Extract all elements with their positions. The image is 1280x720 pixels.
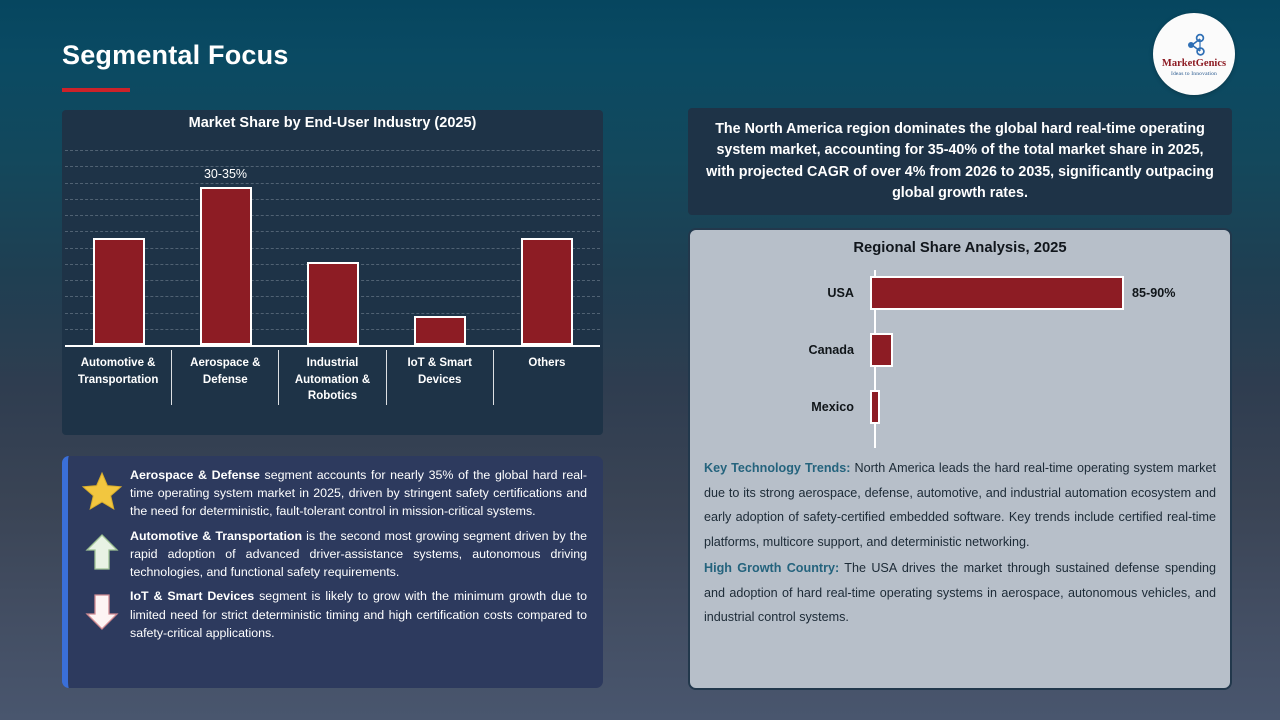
chart-plot-area: 30-35% Automotive & TransportationAerosp… [65,150,600,447]
region-paragraph: High Growth Country: The USA drives the … [704,556,1216,630]
market-share-chart-panel: Market Share by End-User Industry (2025)… [62,110,603,435]
logo-brand-name: MarketGenics [1162,59,1226,70]
regional-bar-label: USA [704,286,868,300]
chart-title: Market Share by End-User Industry (2025) [62,110,603,131]
bar[interactable] [307,262,359,345]
category-label: Aerospace & Defense [171,350,278,405]
regional-bar[interactable] [870,276,1124,310]
region-paragraph: Key Technology Trends: North America lea… [704,456,1216,554]
callout-text: The North America region dominates the g… [702,119,1218,204]
regional-bar[interactable] [870,333,893,367]
category-label: IoT & Smart Devices [386,350,493,405]
regional-bar-value: 85-90% [1132,286,1175,300]
paragraph-lead: Key Technology Trends: [704,461,850,475]
insight-text: Aerospace & Defense segment accounts for… [130,466,593,521]
insight-text: IoT & Smart Devices segment is likely to… [130,587,593,642]
segment-insights-panel: Aerospace & Defense segment accounts for… [62,456,603,688]
region-callout-box: The North America region dominates the g… [688,108,1232,215]
bar[interactable] [414,316,466,345]
logo-tagline: Ideas to Innovation [1171,71,1217,77]
insight-lead: Automotive & Transportation [130,529,302,543]
regional-bar-label: Canada [704,343,868,357]
chart-category-labels: Automotive & TransportationAerospace & D… [65,350,600,405]
regional-chart-title: Regional Share Analysis, 2025 [704,240,1216,256]
bar[interactable] [93,238,145,345]
regional-bar-label: Mexico [704,400,868,414]
bar-slot [386,150,493,345]
regional-share-panel: Regional Share Analysis, 2025 USA85-90%C… [688,228,1232,690]
regional-bar-row: USA85-90% [704,276,1210,310]
bar-slot [279,150,386,345]
regional-bar-row: Canada [704,333,1210,367]
bar[interactable] [521,238,573,345]
paragraph-lead: High Growth Country: [704,561,839,575]
insight-item: Automotive & Transportation is the secon… [74,527,593,582]
bar[interactable] [200,187,252,345]
page-title: Segmental Focus [62,40,289,71]
bar-slot [65,150,172,345]
insight-item: Aerospace & Defense segment accounts for… [74,466,593,521]
insight-item: IoT & Smart Devices segment is likely to… [74,587,593,642]
title-underline-rule [62,88,130,92]
network-nodes-icon [1177,32,1211,58]
insight-lead: IoT & Smart Devices [130,589,254,603]
bar-slot: 30-35% [172,150,279,345]
arrow-down-icon [74,587,130,632]
regional-bar-row: Mexico [704,390,1210,424]
insight-lead: Aerospace & Defense [130,468,260,482]
chart-bars: 30-35% [65,150,600,345]
category-label: Industrial Automation & Robotics [278,350,385,405]
bar-value-label: 30-35% [204,167,247,181]
arrow-up-icon [74,527,130,572]
bar-slot [493,150,600,345]
regional-hbar-chart: USA85-90%CanadaMexico [704,264,1210,448]
star-icon [74,466,130,511]
brand-logo: MarketGenics Ideas to Innovation [1153,13,1235,95]
insight-text: Automotive & Transportation is the secon… [130,527,593,582]
category-label: Automotive & Transportation [65,350,171,405]
chart-x-axis [65,345,600,347]
regional-bar[interactable] [870,390,880,424]
category-label: Others [493,350,600,405]
